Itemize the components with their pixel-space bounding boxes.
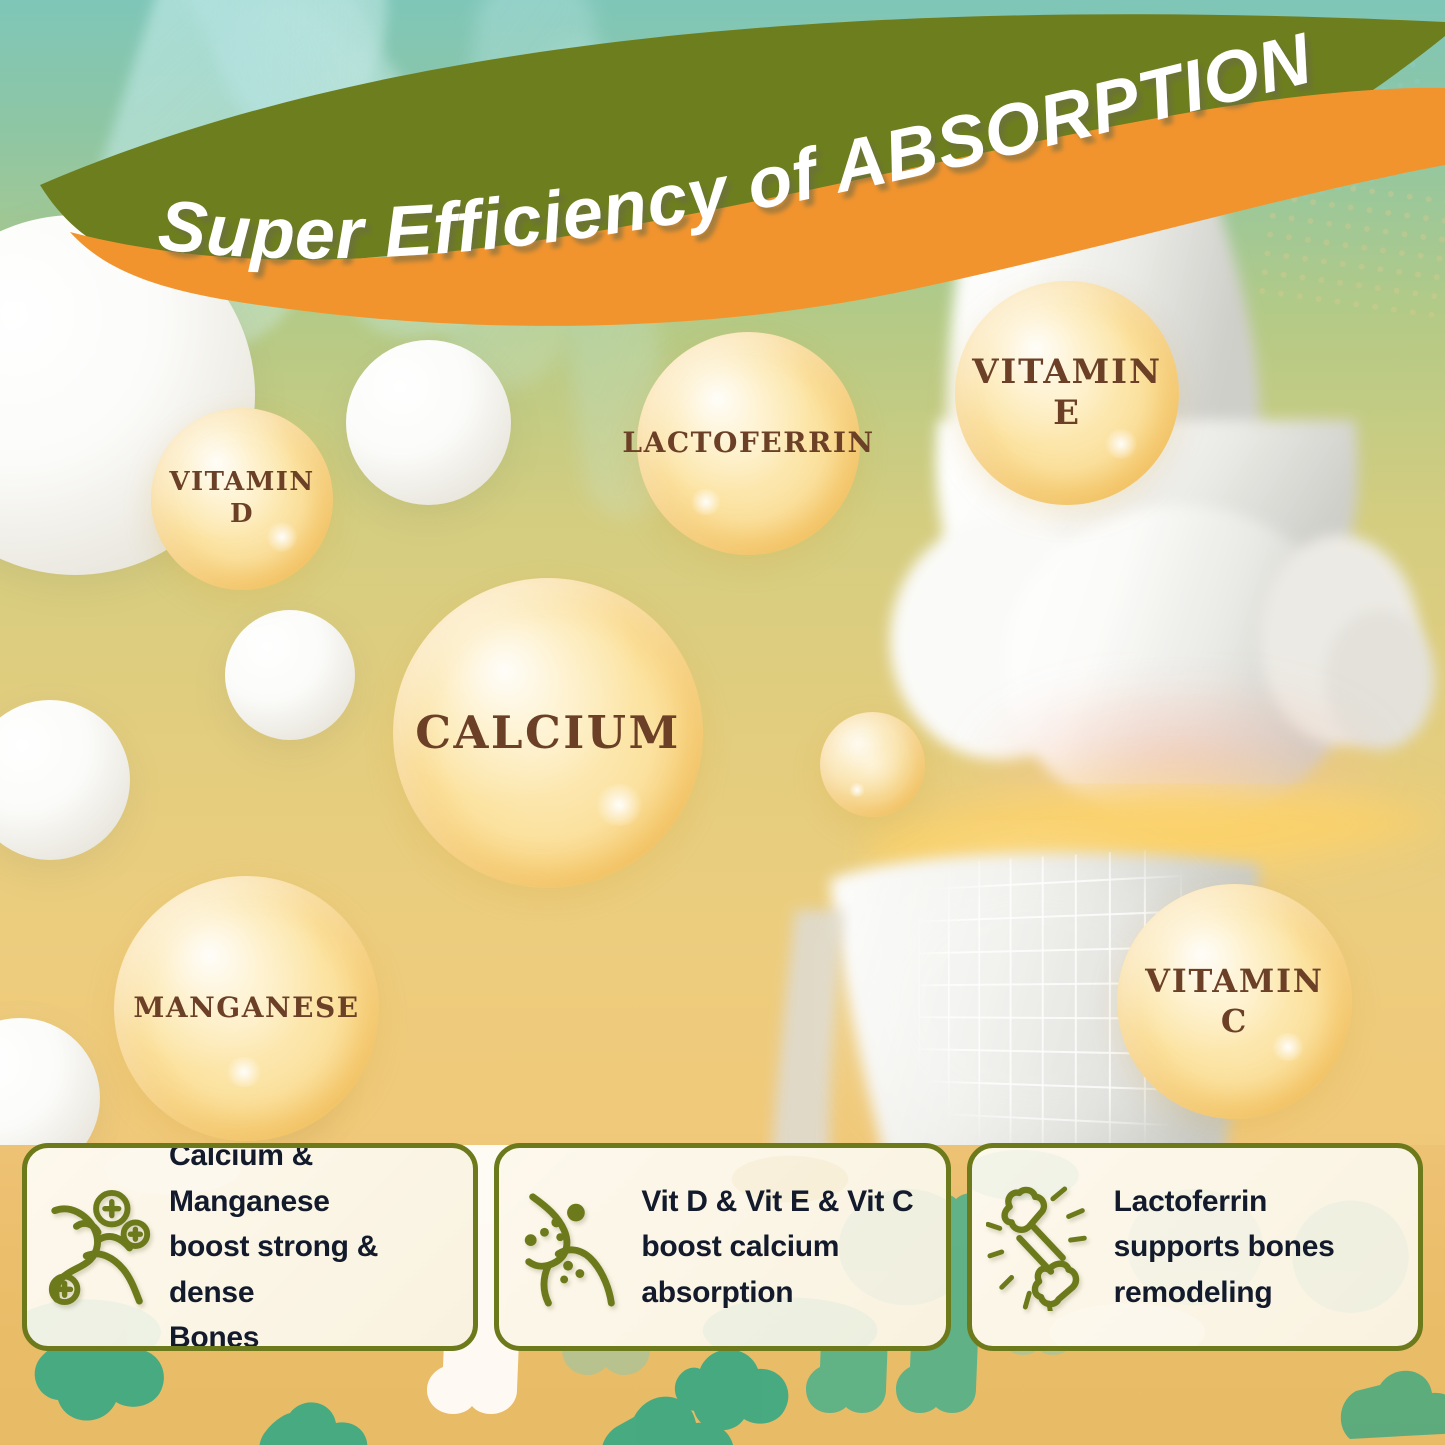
card-line: boost calcium [641,1224,913,1270]
card-vitamins-text: Vit D & Vit E & Vit C boost calcium abso… [641,1179,913,1316]
bubble-vitamin-c-label: VITAMINC [1145,962,1324,1040]
card-lactoferrin[interactable]: Lactoferrin supports bones remodeling [967,1143,1423,1351]
bubble-vitamin-e-label: VITAMINE [972,352,1162,435]
card-calcium-manganese-text: Calcium & Manganese boost strong & dense… [169,1143,461,1351]
shining-bones-icon [986,1183,1104,1311]
knee-joint-plus-icon [41,1183,159,1311]
decor-small-bubble [820,712,925,817]
card-line: Bones [169,1315,461,1351]
card-vitamins[interactable]: Vit D & Vit E & Vit C boost calcium abso… [494,1143,950,1351]
poster-canvas: VITAMIND LACTOFERRIN VITAMINE CALCIUM MA… [0,0,1445,1445]
card-line: Calcium & Manganese [169,1143,461,1224]
decor-white-sphere-2 [346,340,511,505]
card-calcium-manganese[interactable]: Calcium & Manganese boost strong & dense… [22,1143,478,1351]
bubble-vitamin-d-label: VITAMIND [169,467,314,530]
benefit-cards: Calcium & Manganese boost strong & dense… [0,1143,1445,1351]
card-line: boost strong & dense [169,1224,461,1315]
bubble-lactoferrin[interactable]: LACTOFERRIN [637,332,860,555]
bubble-calcium-label: CALCIUM [415,706,681,761]
bubble-calcium[interactable]: CALCIUM [393,578,703,888]
card-line: Vit D & Vit E & Vit C [641,1179,913,1225]
bubble-vitamin-d[interactable]: VITAMIND [151,408,333,590]
card-line: supports bones [1114,1224,1335,1270]
bubble-manganese[interactable]: MANGANESE [114,876,379,1141]
decor-white-sphere-4 [225,610,355,740]
bubble-vitamin-c[interactable]: VITAMINC [1117,884,1352,1119]
card-lactoferrin-text: Lactoferrin supports bones remodeling [1114,1179,1335,1316]
bubble-lactoferrin-label: LACTOFERRIN [622,426,874,460]
decor-white-sphere-3 [0,700,130,860]
card-line: remodeling [1114,1270,1335,1316]
card-line: absorption [641,1270,913,1316]
banner-ribbon: Super Efficiency of ABSORPTION [0,0,1445,360]
bubble-manganese-label: MANGANESE [133,991,359,1025]
knee-joint-dots-icon [513,1183,631,1311]
card-line: Lactoferrin [1114,1179,1335,1225]
